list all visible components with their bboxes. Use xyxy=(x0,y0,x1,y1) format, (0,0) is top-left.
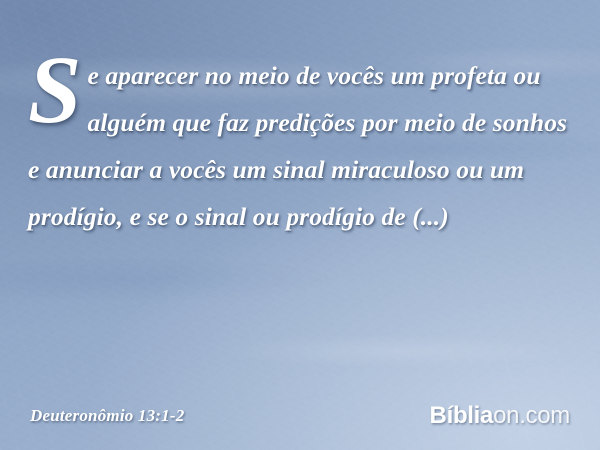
brand-secondary-text: on.com xyxy=(493,402,570,429)
verse-body: e aparecer no meio de vocês um profeta o… xyxy=(28,61,567,231)
verse-image-card: Se aparecer no meio de vocês um profeta … xyxy=(0,0,600,450)
footer: Deuteronômio 13:1-2 Bíbliaon.com xyxy=(0,388,600,450)
brand-primary-text: Bíblia xyxy=(430,402,494,429)
verse-text: Se aparecer no meio de vocês um profeta … xyxy=(28,52,576,240)
brand-logo[interactable]: Bíbliaon.com xyxy=(430,402,570,430)
verse-dropcap: S xyxy=(28,50,88,131)
verse-reference: Deuteronômio 13:1-2 xyxy=(30,406,184,426)
